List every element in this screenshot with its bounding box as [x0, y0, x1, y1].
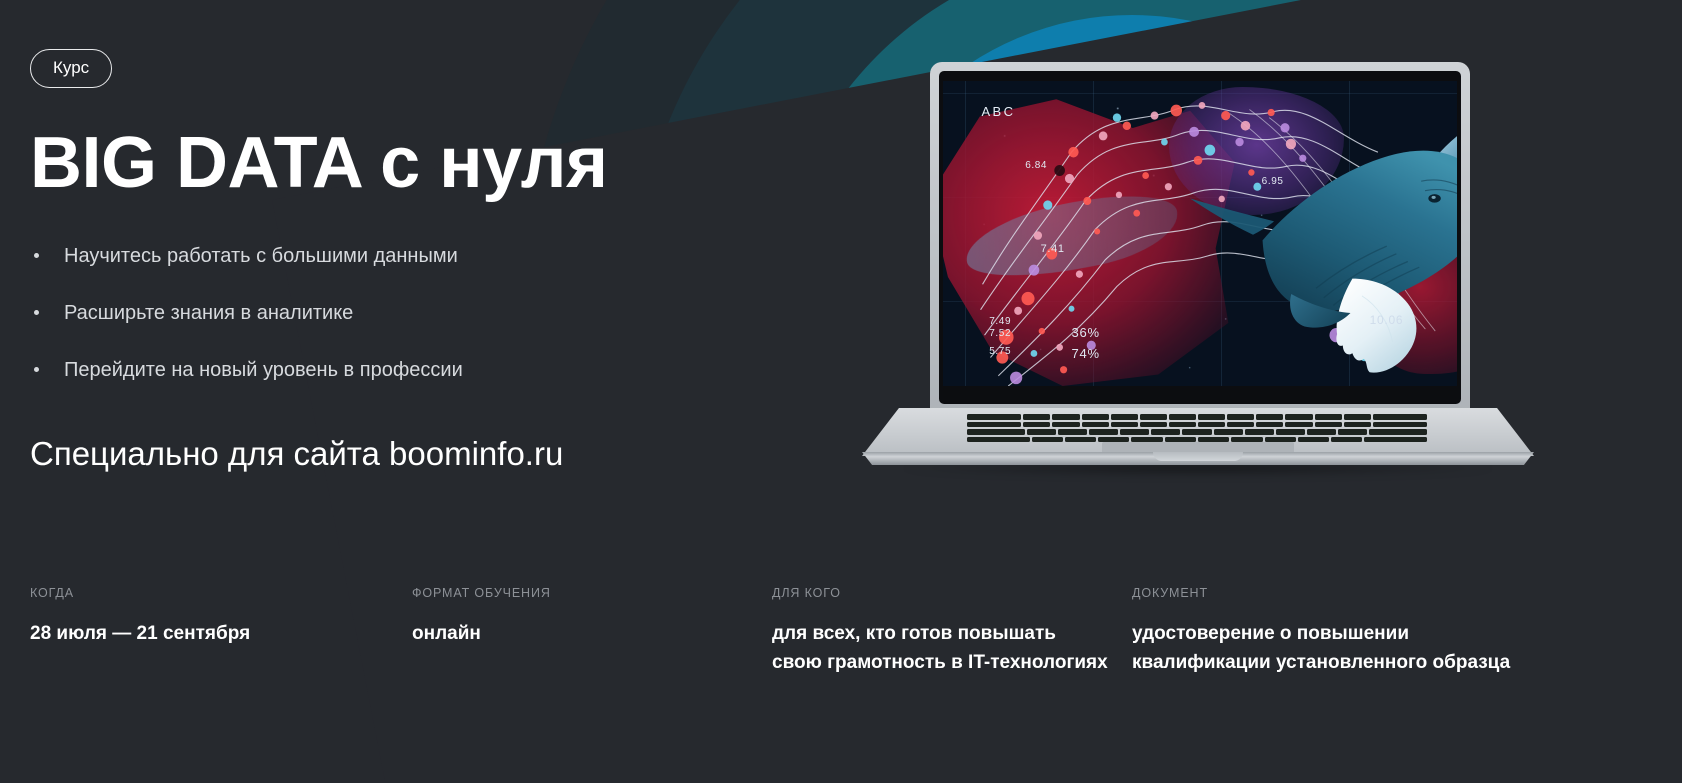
fact-label: ДЛЯ КОГО: [772, 586, 1108, 600]
screen-label-695: 6.95: [1262, 176, 1284, 187]
screen-label-752: 7.52: [989, 328, 1011, 339]
list-item-label: Расширьте знания в аналитике: [64, 302, 353, 324]
course-landing-hero: ABC 6.84 6.95 7.41 7.49 7.52 5.75 36% 74…: [0, 0, 1682, 783]
list-item: Расширьте знания в аналитике: [30, 301, 790, 325]
fact-value: удостоверение о повышении квалификации у…: [1132, 619, 1528, 678]
fact-value: для всех, кто готов повышать свою грамот…: [772, 619, 1108, 678]
screen-label-749: 7.49: [989, 316, 1011, 327]
hero-content: Курс BIG DATA с нуля Научитесь работать …: [30, 0, 790, 473]
bullet-dot-icon: [34, 310, 39, 315]
laptop-lid: ABC 6.84 6.95 7.41 7.49 7.52 5.75 36% 74…: [930, 62, 1470, 414]
laptop-base-top: [862, 408, 1534, 456]
screen-label-abc: ABC: [982, 104, 1016, 119]
list-item: Перейдите на новый уровень в профессии: [30, 358, 790, 382]
fact-document: ДОКУМЕНТ удостоверение о повышении квали…: [1132, 586, 1552, 678]
promo-line: Специально для сайта boominfo.ru: [30, 434, 790, 474]
screen-label-36-percent: 36%: [1072, 325, 1100, 340]
laptop-base-notch: [1153, 452, 1243, 461]
laptop-keyboard: [967, 414, 1427, 442]
screen-label-74-percent: 74%: [1072, 346, 1100, 361]
laptop-bezel: ABC 6.84 6.95 7.41 7.49 7.52 5.75 36% 74…: [939, 71, 1461, 404]
benefits-list: Научитесь работать с большими данными Ра…: [30, 244, 790, 382]
fact-value: 28 июля — 21 сентября: [30, 619, 388, 648]
course-badge[interactable]: Курс: [30, 49, 112, 88]
course-facts-row: КОГДА 28 июля — 21 сентября ФОРМАТ ОБУЧЕ…: [30, 586, 1650, 678]
screen-label-741: 7.41: [1041, 243, 1065, 255]
fact-label: ФОРМАТ ОБУЧЕНИЯ: [412, 586, 748, 600]
screen-label-684: 6.84: [1025, 160, 1047, 171]
fact-audience: ДЛЯ КОГО для всех, кто готов повышать св…: [772, 586, 1132, 678]
fact-label: КОГДА: [30, 586, 388, 600]
laptop-screen: ABC 6.84 6.95 7.41 7.49 7.52 5.75 36% 74…: [943, 81, 1457, 386]
screen-label-575: 5.75: [989, 346, 1011, 357]
whale-graphic: [1118, 99, 1457, 386]
fact-format: ФОРМАТ ОБУЧЕНИЯ онлайн: [412, 586, 772, 678]
bullet-dot-icon: [34, 367, 39, 372]
fact-value: онлайн: [412, 619, 748, 648]
keyboard-row: [967, 422, 1427, 428]
laptop-illustration: ABC 6.84 6.95 7.41 7.49 7.52 5.75 36% 74…: [862, 62, 1534, 494]
keyboard-row: [967, 414, 1427, 420]
list-item-label: Перейдите на новый уровень в профессии: [64, 359, 463, 381]
fact-when: КОГДА 28 июля — 21 сентября: [30, 586, 412, 678]
list-item: Научитесь работать с большими данными: [30, 244, 790, 268]
list-item-label: Научитесь работать с большими данными: [64, 245, 458, 267]
laptop-base: [862, 408, 1534, 468]
screen-label-1006: 10.06: [1370, 313, 1404, 327]
keyboard-row: [967, 429, 1427, 435]
page-title: BIG DATA с нуля: [30, 126, 790, 202]
bullet-dot-icon: [34, 253, 39, 258]
fact-label: ДОКУМЕНТ: [1132, 586, 1528, 600]
